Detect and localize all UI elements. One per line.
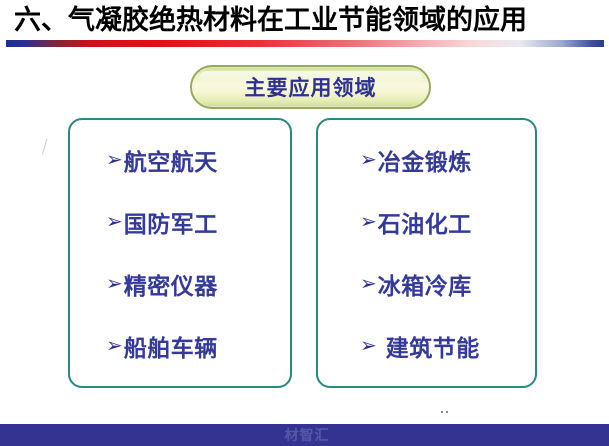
list-item[interactable]: ➢ 精密仪器	[70, 253, 290, 315]
center-watermark-text: 材智汇	[262, 424, 352, 446]
section-banner: 主要应用领域	[190, 65, 431, 109]
left-category-box: ➢ 航空航天 ➢ 国防军工 ➢ 精密仪器 ➢ 船舶车辆	[68, 118, 292, 388]
arrow-bullet-icon: ➢	[106, 211, 123, 231]
list-item[interactable]: ➢ 船舶车辆	[70, 315, 290, 377]
list-item[interactable]: ➢ 国防军工	[70, 191, 290, 253]
list-item[interactable]: ➢ 冶金锻炼	[318, 129, 535, 191]
wechat-icon	[437, 407, 458, 424]
title-divider-rule	[6, 40, 604, 47]
banner-label: 主要应用领域	[192, 67, 429, 107]
left-category-list: ➢ 航空航天 ➢ 国防军工 ➢ 精密仪器 ➢ 船舶车辆	[70, 120, 290, 386]
list-item-label: 冶金锻炼	[378, 143, 472, 177]
right-category-box: ➢ 冶金锻炼 ➢ 石油化工 ➢ 冰箱冷库 ➢ 建筑节能	[316, 118, 537, 388]
list-item-label: 冰箱冷库	[378, 267, 472, 301]
list-item[interactable]: ➢ 冰箱冷库	[318, 253, 535, 315]
right-category-list: ➢ 冶金锻炼 ➢ 石油化工 ➢ 冰箱冷库 ➢ 建筑节能	[318, 120, 535, 386]
list-item-label: 船舶车辆	[124, 329, 218, 363]
arrow-bullet-icon: ➢	[360, 273, 377, 293]
list-item-label: 建筑节能	[386, 329, 480, 363]
list-item-label: 石油化工	[378, 205, 472, 239]
arrow-bullet-icon: ➢	[360, 211, 377, 231]
arrow-bullet-icon: ➢	[360, 335, 377, 355]
list-item-label: 精密仪器	[124, 267, 218, 301]
corner-watermark-text: 材智汇NewM	[464, 405, 555, 426]
list-item[interactable]: ➢ 建筑节能	[318, 315, 535, 377]
arrow-bullet-icon: ➢	[106, 149, 123, 169]
stray-pen-mark	[42, 139, 57, 157]
list-item-label: 国防军工	[124, 205, 218, 239]
arrow-bullet-icon: ➢	[106, 273, 123, 293]
slide-canvas: 六、气凝胶绝热材料在工业节能领域的应用 主要应用领域 ➢ 航空航天 ➢ 国防军工…	[0, 0, 609, 446]
arrow-bullet-icon: ➢	[360, 149, 377, 169]
list-item[interactable]: ➢ 航空航天	[70, 129, 290, 191]
page-title: 六、气凝胶绝热材料在工业节能领域的应用	[14, 2, 604, 38]
corner-watermark: 材智汇NewM	[437, 404, 555, 426]
list-item[interactable]: ➢ 石油化工	[318, 191, 535, 253]
list-item-label: 航空航天	[124, 143, 218, 177]
arrow-bullet-icon: ➢	[106, 335, 123, 355]
